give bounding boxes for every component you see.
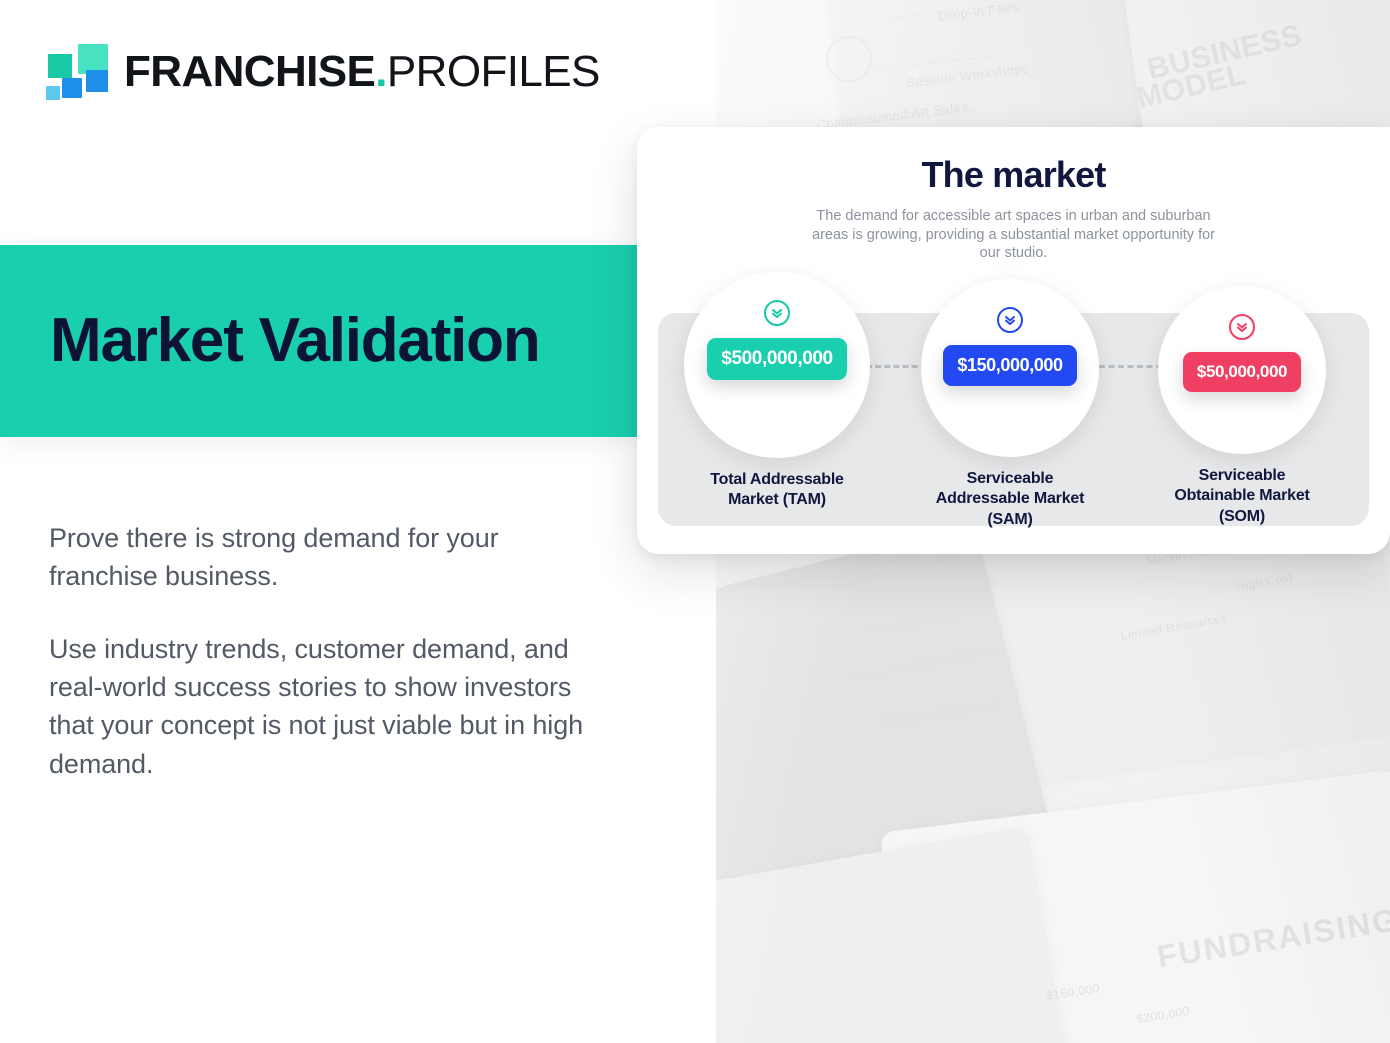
bg-circle-icon [826, 36, 872, 82]
description-paragraph-2: Use industry trends, customer demand, an… [49, 630, 594, 783]
market-card: The market The demand for accessible art… [637, 127, 1390, 554]
market-node-som[interactable]: $50,000,000 Serviceable Obtainable Marke… [1158, 286, 1326, 527]
description-paragraph-1: Prove there is strong demand for your fr… [49, 519, 594, 596]
hero-title-banner: Market Validation [0, 245, 637, 437]
brand-name-bold: FRANCHISE [124, 47, 375, 96]
chevron-double-down-icon [997, 307, 1023, 333]
market-label-tam: Total Addressable Market (TAM) [684, 470, 870, 511]
market-label-som: Serviceable Obtainable Market (SOM) [1158, 466, 1326, 527]
slide-canvas: Drop-in Fees Session Workshops Commissio… [0, 0, 1390, 1043]
brand-logo[interactable]: FRANCHISE.PROFILES [46, 44, 600, 100]
market-value-tam: $500,000,000 [707, 338, 846, 380]
market-node-tam[interactable]: $500,000,000 Total Addressable Market (T… [684, 272, 870, 511]
market-label-sam: Serviceable Addressable Market (SAM) [921, 469, 1099, 530]
chevron-double-down-icon [1229, 314, 1255, 340]
market-value-sam: $150,000,000 [943, 345, 1076, 386]
squares-logo-icon [46, 44, 108, 100]
market-node-som-bubble: $50,000,000 [1158, 286, 1326, 454]
brand-name-light: PROFILES [387, 47, 600, 96]
chevron-double-down-icon [764, 300, 790, 326]
market-node-sam-bubble: $150,000,000 [921, 279, 1099, 457]
hero-description: Prove there is strong demand for your fr… [49, 519, 594, 783]
market-nodes: $500,000,000 Total Addressable Market (T… [637, 127, 1390, 554]
market-value-som: $50,000,000 [1183, 352, 1301, 392]
page-title: Market Validation [50, 308, 540, 373]
brand-wordmark: FRANCHISE.PROFILES [124, 50, 600, 94]
brand-name-dot: . [375, 47, 387, 96]
market-node-tam-bubble: $500,000,000 [684, 272, 870, 458]
market-node-sam[interactable]: $150,000,000 Serviceable Addressable Mar… [921, 279, 1099, 530]
